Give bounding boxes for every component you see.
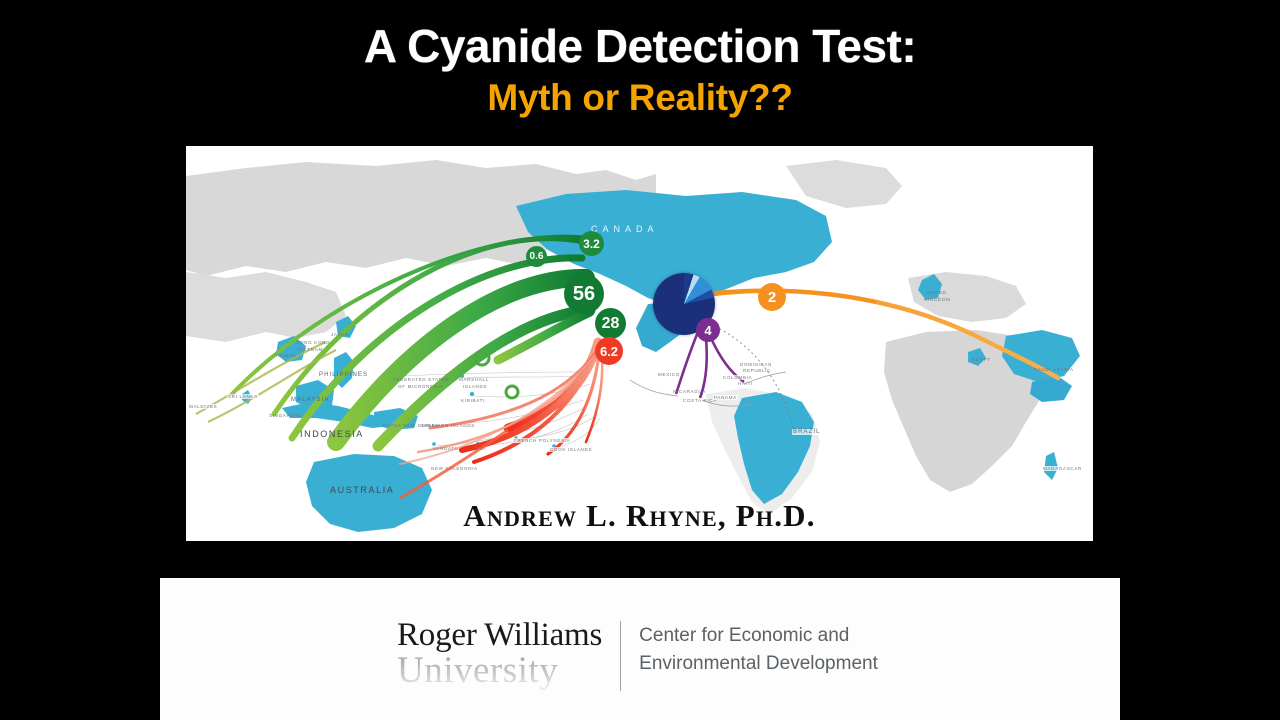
flow-bubble-28: 28	[595, 308, 626, 339]
flow-bubble-4: 4	[696, 318, 720, 342]
logo-lockup: Roger Williams University Center for Eco…	[397, 618, 878, 691]
university-name-line-1: Roger Williams	[397, 618, 602, 652]
flow-bubble-3-2: 3.2	[579, 231, 604, 256]
university-name-line-2: University	[397, 652, 602, 690]
flow-bubble-0-6: 0.6	[526, 246, 547, 267]
page-title: A Cyanide Detection Test:	[0, 0, 1280, 74]
presentation-slide: A Cyanide Detection Test: Myth or Realit…	[0, 0, 1280, 720]
flow-bubble-label: 4	[704, 324, 711, 337]
presenter-name: Andrew L. Rhyne, Ph.D.	[186, 498, 1093, 534]
flow-bubble-2: 2	[758, 283, 786, 311]
flow-bubble-label: 56	[573, 284, 595, 304]
flow-bubble-label: 3.2	[583, 238, 600, 250]
slide-title-block: A Cyanide Detection Test: Myth or Realit…	[0, 0, 1280, 140]
page-subtitle: Myth or Reality??	[0, 74, 1280, 120]
flow-bubble-6-2: 6.2	[595, 337, 623, 365]
map-graphic	[186, 146, 1093, 541]
flow-bubble-label: 2	[768, 290, 776, 305]
flow-bubble-label: 6.2	[600, 345, 618, 358]
center-tagline-line-1: Center for Economic and	[639, 622, 878, 650]
university-name: Roger Williams University	[397, 618, 602, 690]
flow-bubble-label: 28	[602, 316, 620, 332]
logo-divider	[620, 621, 621, 691]
center-tagline: Center for Economic and Environmental De…	[639, 618, 878, 678]
center-tagline-line-2: Environmental Development	[639, 650, 878, 678]
institution-logo-panel: Roger Williams University Center for Eco…	[160, 578, 1120, 720]
world-trade-flow-map: 0.6 3.2 56 28 6.2 2 4 CANADA BRAZIL AUST…	[186, 146, 1093, 541]
flow-bubble-56: 56	[564, 274, 604, 314]
flow-bubble-label: 0.6	[530, 252, 544, 262]
